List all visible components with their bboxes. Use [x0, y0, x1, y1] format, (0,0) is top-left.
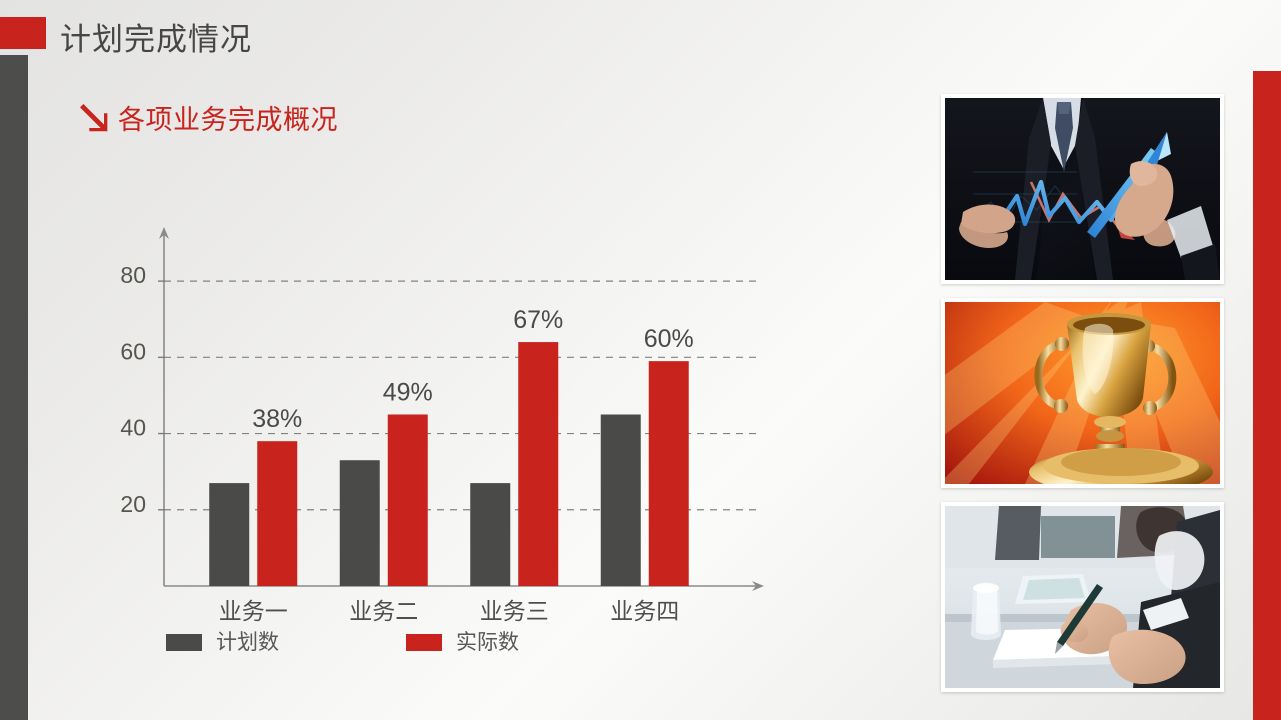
y-axis-tick-label: 60: [120, 338, 146, 364]
arrow-down-right-icon: [76, 99, 114, 137]
photo-1-inner: [945, 98, 1220, 280]
bar-data-label: 60%: [644, 325, 694, 353]
chart-bar: [209, 483, 249, 586]
photo-2-art: [945, 302, 1220, 484]
subtitle-text: 各项业务完成概况: [118, 98, 338, 137]
x-axis-label: 业务四: [610, 598, 679, 624]
business-meeting-photo: [941, 502, 1224, 692]
x-axis-label: 业务一: [219, 598, 288, 624]
chart-svg: 20406080 38%49%67%60% 业务一业务二业务三业务四 计划数实际…: [96, 215, 786, 685]
y-axis-tick-label: 40: [120, 415, 146, 441]
photo-3-art: [945, 506, 1220, 688]
y-axis-ticks: 20406080: [120, 262, 146, 517]
legend-label: 计划数: [216, 631, 279, 654]
right-red-bar: [1253, 71, 1281, 720]
x-axis-label: 业务二: [349, 598, 418, 624]
chart-data-labels: 38%49%67%60%: [252, 306, 694, 433]
golden-trophy-photo: [941, 298, 1224, 488]
x-axis-label: 业务三: [480, 598, 549, 624]
chart-bars: [209, 342, 689, 586]
legend-label: 实际数: [456, 631, 519, 654]
y-axis-tick-label: 80: [120, 262, 146, 288]
bar-data-label: 49%: [383, 379, 433, 407]
chart-bar: [601, 415, 641, 587]
chart-bar: [340, 460, 380, 586]
y-axis-tick-label: 20: [120, 491, 146, 517]
chart-bar: [518, 342, 558, 586]
left-gray-bar: [0, 55, 28, 720]
legend-swatch: [166, 634, 202, 651]
page-title: 计划完成情况: [60, 14, 252, 59]
bar-data-label: 38%: [252, 405, 302, 433]
photo-2-inner: [945, 302, 1220, 484]
chart-legend: 计划数实际数: [166, 631, 519, 654]
slide-canvas: 计划完成情况 各项业务完成概况 20406080 38%49%67%60% 业务…: [0, 0, 1281, 720]
chart-bar: [257, 441, 297, 586]
x-axis-labels: 业务一业务二业务三业务四: [219, 598, 680, 624]
bar-data-label: 67%: [513, 306, 563, 334]
chart-bar: [470, 483, 510, 586]
chart-bar: [388, 415, 428, 587]
photo-1-art: [945, 98, 1220, 280]
photo-3-inner: [945, 506, 1220, 688]
subtitle-group: 各项业务完成概况: [76, 98, 338, 137]
chart-bar: [649, 361, 689, 586]
title-red-block: [0, 17, 46, 49]
legend-swatch: [406, 634, 442, 651]
bar-chart: 20406080 38%49%67%60% 业务一业务二业务三业务四 计划数实际…: [96, 215, 786, 685]
businessman-growth-chart-photo: [941, 94, 1224, 284]
